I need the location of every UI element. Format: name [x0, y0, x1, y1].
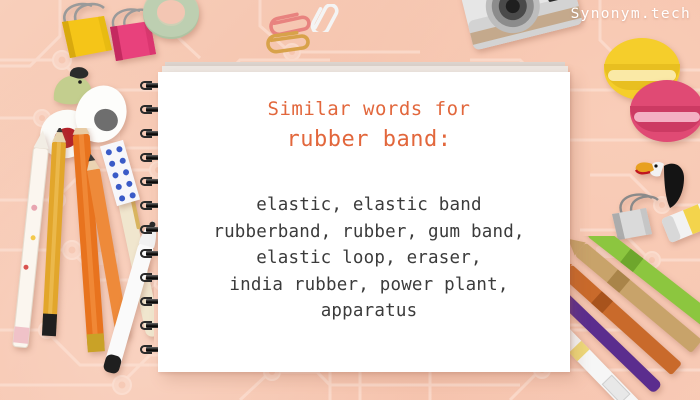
synonym-line: elastic, elastic band: [213, 192, 524, 219]
macaron-pink-icon: [630, 80, 700, 142]
synonym-line: apparatus: [213, 298, 524, 325]
page-heading: Similar words for rubber band:: [268, 94, 471, 156]
synonym-line: india rubber, power plant,: [213, 272, 524, 299]
synonym-line: rubberband, rubber, gum band,: [213, 219, 524, 246]
synonym-line: elastic loop, eraser,: [213, 245, 524, 272]
paper-clip-white-icon: [305, 4, 349, 32]
washi-tape-roll-icon: [140, 0, 202, 44]
crayon-fan-right: [556, 236, 700, 400]
synonym-list: elastic, elastic band rubberband, rubber…: [213, 192, 524, 325]
heading-line-1: Similar words for: [268, 94, 471, 124]
washi-tape-blue-dots-icon: [96, 138, 144, 208]
heading-line-2: rubber band:: [268, 124, 471, 156]
paper-clip-gold-icon: [262, 30, 314, 56]
site-watermark: Synonym.tech: [571, 6, 691, 22]
notebook-content: Similar words for rubber band: elastic, …: [178, 72, 560, 372]
